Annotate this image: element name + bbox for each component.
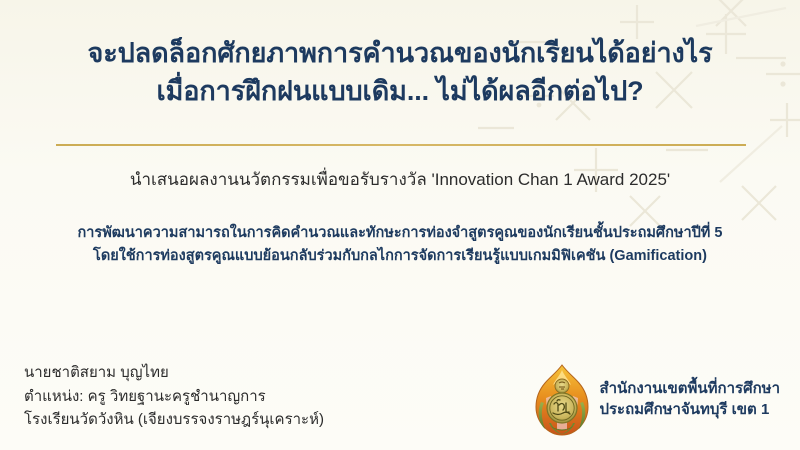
presenter-name: นายชาติสยาม บุญไทย — [24, 361, 324, 385]
organization-name: สำนักงานเขตพื้นที่การศึกษา ประถมศึกษาจัน… — [599, 378, 780, 423]
organization-line-1: สำนักงานเขตพื้นที่การศึกษา — [599, 378, 780, 399]
organization-line-2: ประถมศึกษาจันทบุรี เขต 1 — [599, 399, 780, 420]
research-title-line-2: โดยใช้การท่องสูตรคูณแบบย้อนกลับร่วมกับกล… — [0, 245, 800, 268]
slide-subtitle: นำเสนอผลงานนวัตกรรมเพื่อขอรับรางวัล 'Inn… — [0, 168, 800, 192]
slide-title: จะปลดล็อกศักยภาพการคำนวณของนักเรียนได้อย… — [0, 34, 800, 111]
organization-block: สำนักงานเขตพื้นที่การศึกษา ประถมศึกษาจัน… — [535, 364, 780, 436]
research-title-line-1: การพัฒนาความสามารถในการคิดคำนวณและทักษะก… — [0, 222, 800, 245]
gold-divider — [56, 144, 746, 146]
presenter-school: โรงเรียนวัดวังหิน (เจียงบรรจงราษฎร์นุเคร… — [24, 408, 324, 432]
presenter-position: ตำแหน่ง: ครู วิทยฐานะครูชำนาญการ — [24, 385, 324, 409]
title-line-2: เมื่อการฝึกฝนแบบเดิม... ไม่ได้ผลอีกต่อไป… — [0, 72, 800, 110]
presentation-slide: จะปลดล็อกศักยภาพการคำนวณของนักเรียนได้อย… — [0, 0, 800, 450]
research-title: การพัฒนาความสามารถในการคิดคำนวณและทักษะก… — [0, 222, 800, 269]
title-line-1: จะปลดล็อกศักยภาพการคำนวณของนักเรียนได้อย… — [0, 34, 800, 72]
presenter-info: นายชาติสยาม บุญไทย ตำแหน่ง: ครู วิทยฐานะ… — [24, 361, 324, 432]
obec-flame-emblem-icon — [535, 364, 589, 436]
